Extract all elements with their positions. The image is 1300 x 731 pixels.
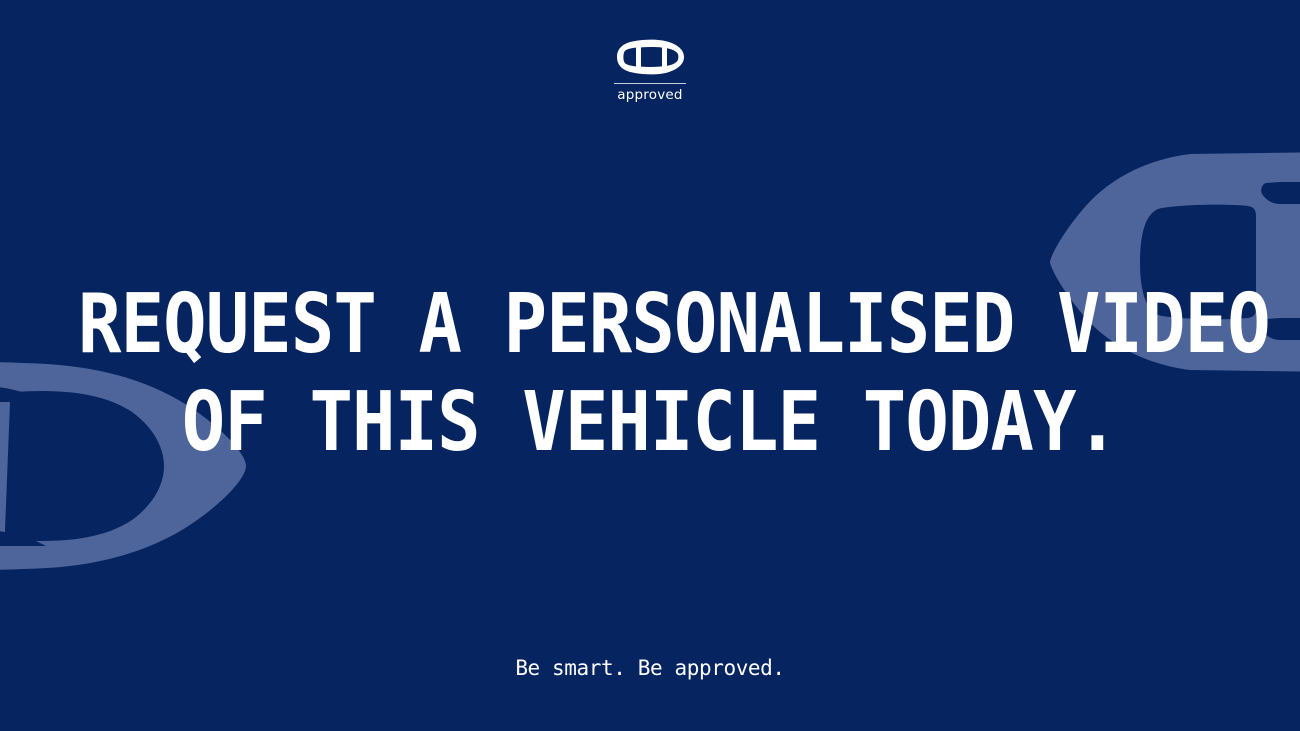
headline-line-1: REQUEST A PERSONALISED VIDEO	[78, 276, 1222, 374]
brand-tagline: Be smart. Be approved.	[0, 656, 1300, 680]
headline-line-2: OF THIS VEHICLE TODAY.	[78, 374, 1222, 472]
brand-logo: approved	[0, 38, 1300, 103]
promo-slide: approved REQUEST A PERSONALISED VIDEO OF…	[0, 0, 1300, 731]
logo-divider	[614, 83, 686, 84]
page-title: REQUEST A PERSONALISED VIDEO OF THIS VEH…	[0, 276, 1300, 472]
car-top-view-icon	[615, 38, 685, 76]
logo-wordmark: approved	[0, 89, 1300, 103]
